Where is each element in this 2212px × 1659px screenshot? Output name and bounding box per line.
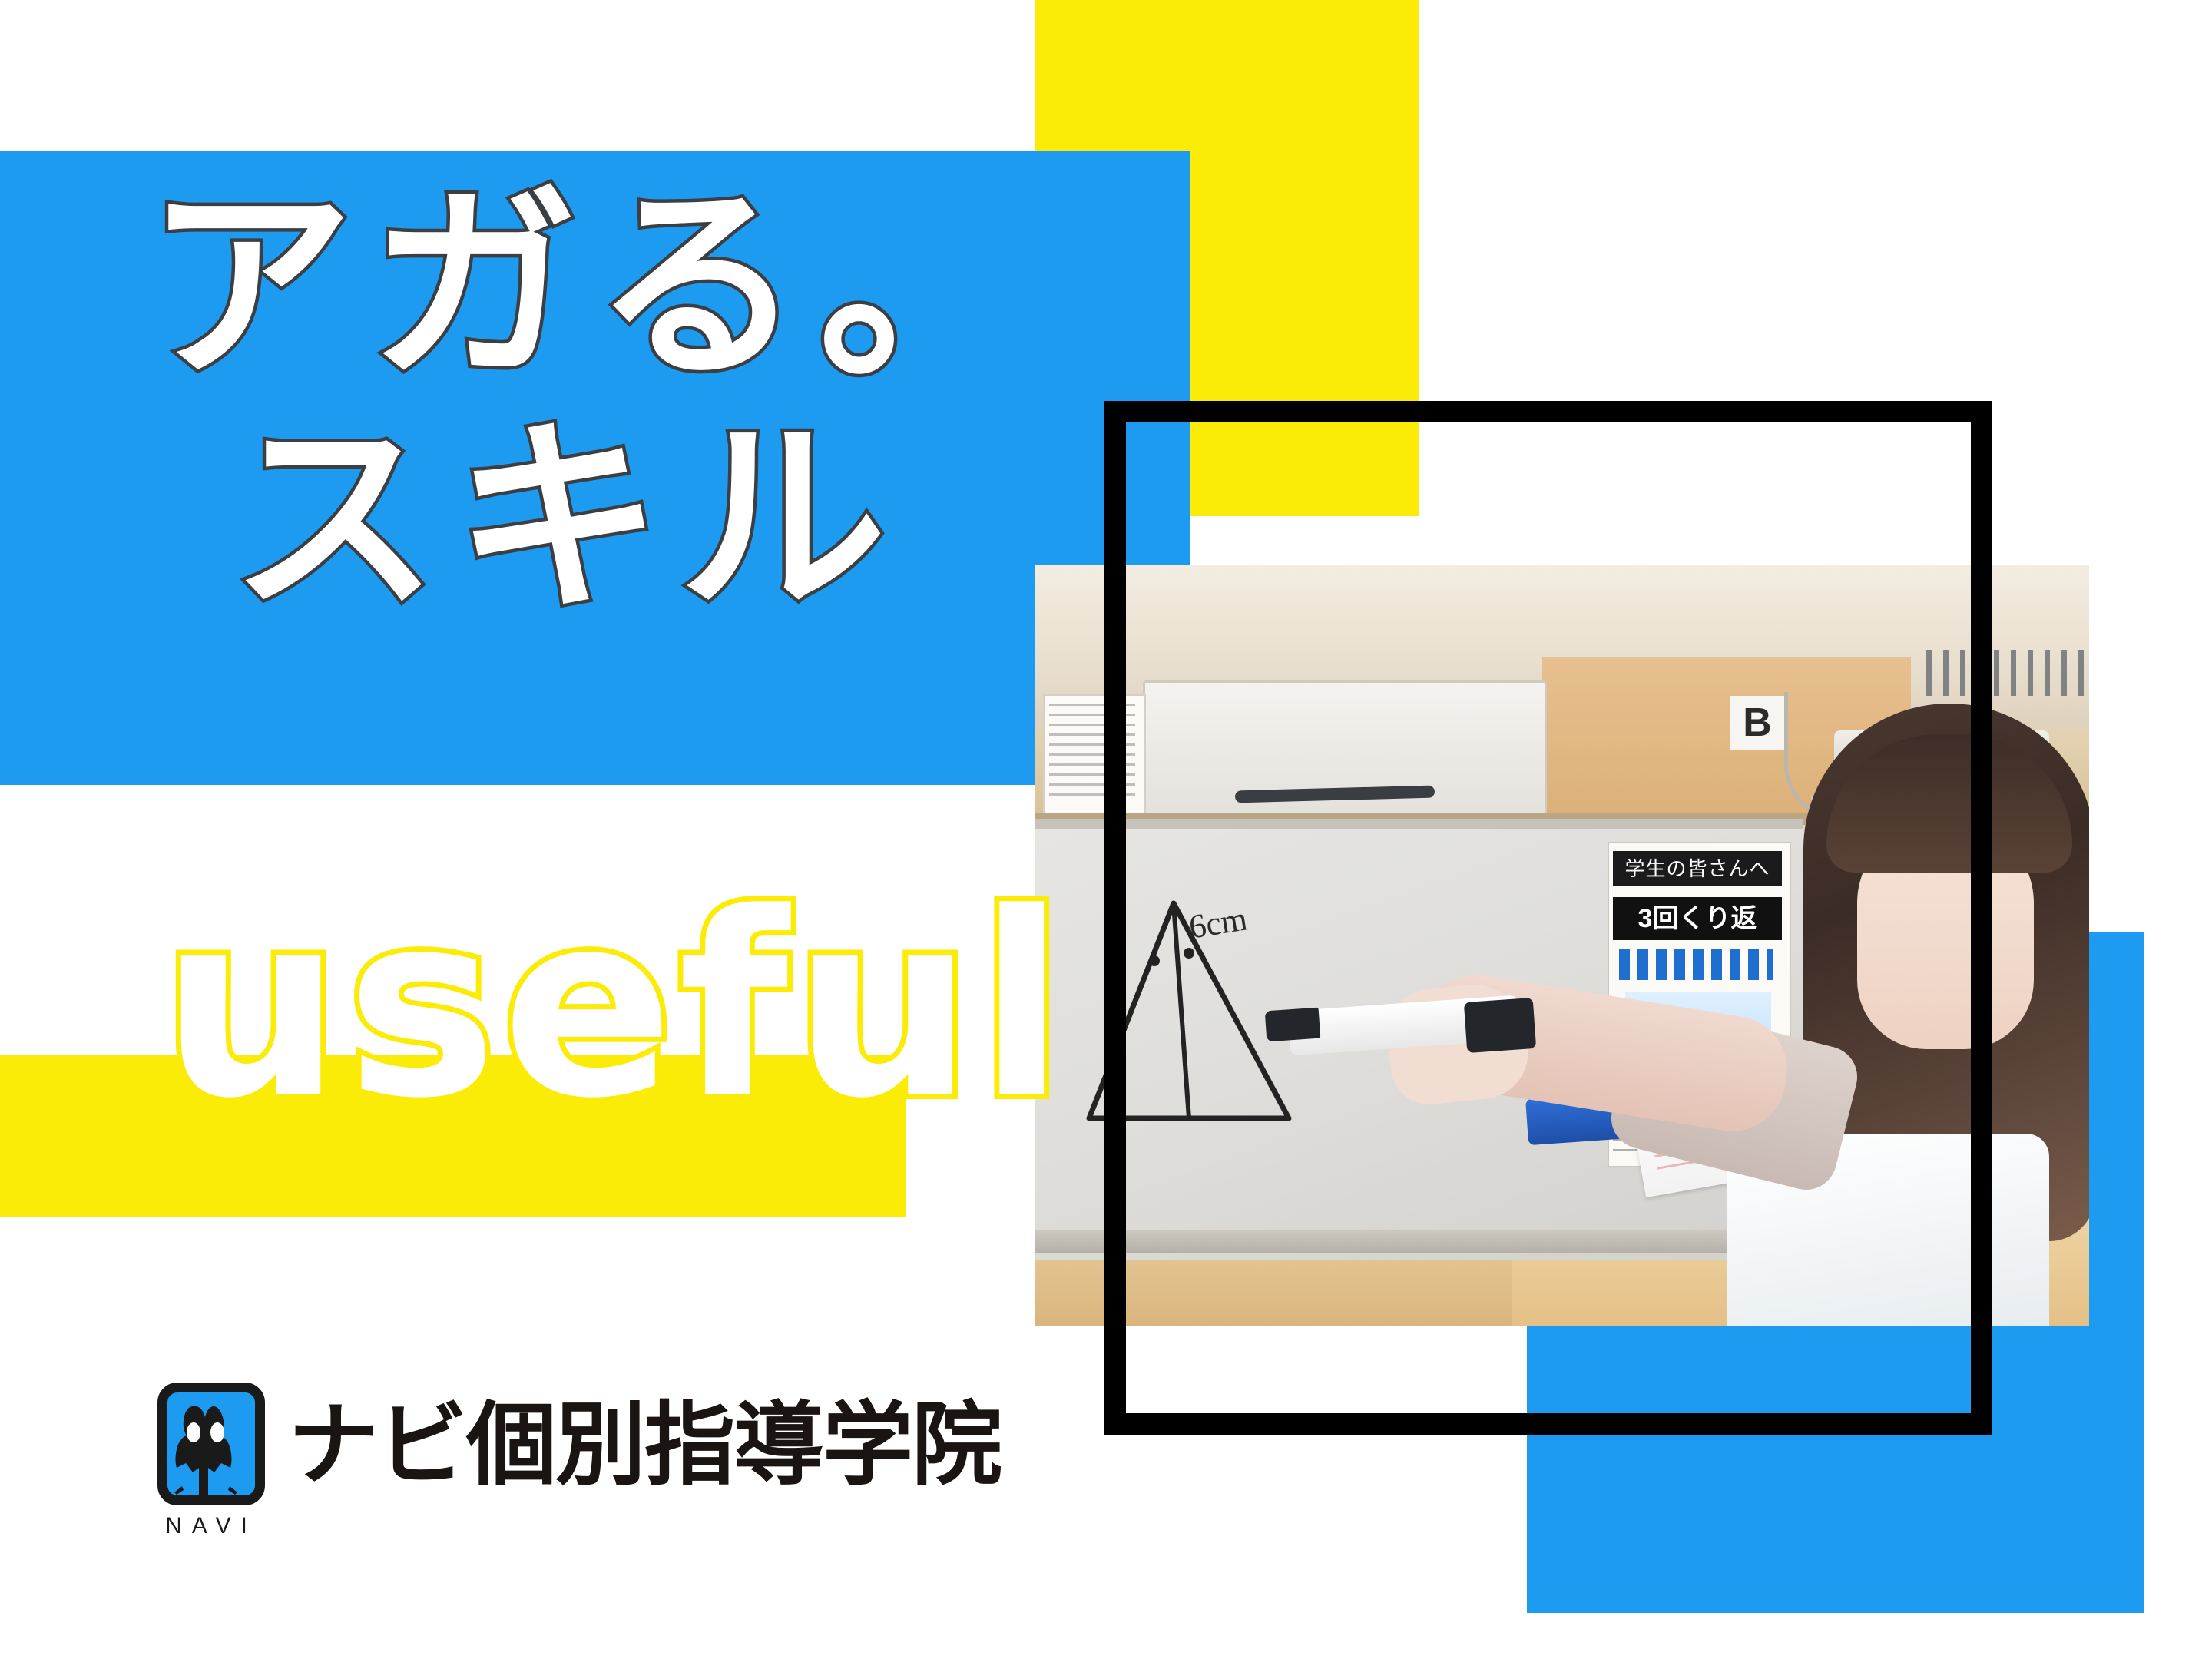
partition-label: B <box>1730 696 1784 750</box>
tagline-useful: useful <box>161 859 1070 1154</box>
classroom-photo: B 6cm 学生の皆さんへ <box>1035 565 2089 1326</box>
headline: アガる。 スキル <box>146 180 1043 625</box>
poster-strategy-heading: 学生の皆さんへ <box>1613 851 1782 886</box>
wall-hooks-icon <box>1926 650 2089 696</box>
brand-name: ナビ個別指導学院 <box>288 1382 1001 1490</box>
brand-logo-mark: NAVI <box>157 1382 265 1539</box>
navi-mascot-icon <box>170 1403 253 1502</box>
brand-logo: NAVI ナビ個別指導学院 <box>157 1382 1001 1539</box>
headline-line-2: スキル <box>230 413 1043 624</box>
poster-strategy-highlight: 3回くり返し！ <box>1613 897 1782 940</box>
headline-line-1: アガる。 <box>146 180 1043 392</box>
poster-arrow-row-icon <box>1619 949 1773 980</box>
background-poster-text <box>1049 704 1135 803</box>
marker-tip-icon <box>1265 1008 1321 1042</box>
navi-badge <box>157 1382 265 1505</box>
marker-cap-icon <box>1464 998 1536 1053</box>
navi-wordmark: NAVI <box>157 1513 265 1539</box>
photo-scene: B 6cm 学生の皆さんへ <box>1035 565 2089 1326</box>
whiteboard-tray <box>1035 1230 1803 1253</box>
poster-canvas: B 6cm 学生の皆さんへ <box>0 0 2212 1659</box>
